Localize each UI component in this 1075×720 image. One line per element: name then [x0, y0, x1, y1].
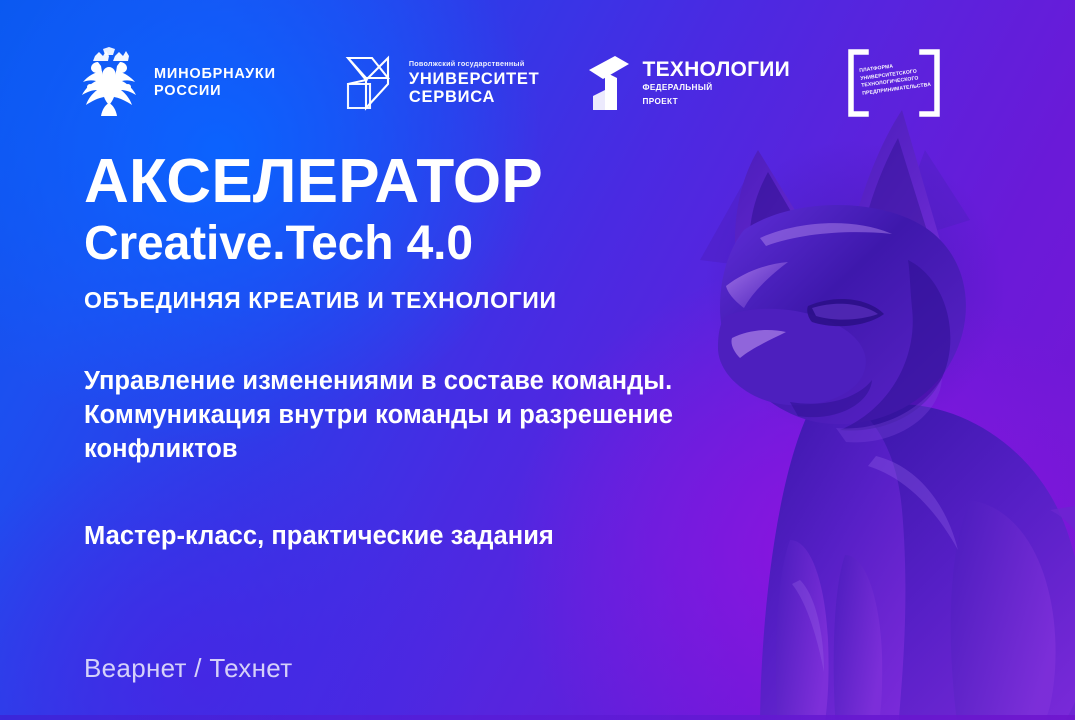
footer-block: Веарнет / Технет [84, 653, 292, 684]
logo-minobrnauki-text: МИНОБРНАУКИ РОССИИ [154, 66, 276, 100]
slide-title: АКСЕЛЕРАТОР [84, 152, 744, 213]
logo-minobrnauki: МИНОБРНАУКИ РОССИИ [78, 47, 276, 119]
slide-tagline: ОБЪЕДИНЯЯ КРЕАТИВ И ТЕХНОЛОГИИ [84, 288, 744, 313]
description-format-note: Мастер-класс, практические задания [84, 519, 554, 553]
logo-pvgus-line-2: СЕРВИСА [409, 88, 540, 106]
logo-pvgus-text: Поволжский государственный УНИВЕРСИТЕТ С… [409, 60, 540, 107]
logo-technologii-sub-2: ПРОЕКТ [642, 97, 790, 107]
presentation-slide: МИНОБРНАУКИ РОССИИ Поволжский государств… [0, 0, 1075, 720]
headline-block: АКСЕЛЕРАТОР Creative.Tech 4.0 ОБЪЕДИНЯЯ … [84, 152, 744, 313]
logo-pvgus: Поволжский государственный УНИВЕРСИТЕТ С… [338, 50, 540, 116]
logo-technologii-sub-1: ФЕДЕРАЛЬНЫЙ [642, 83, 790, 93]
slide-subtitle: Creative.Tech 4.0 [84, 219, 744, 270]
logo-platforma: ПЛАТФОРМА УНИВЕРСИТЕТСКОГО ТЕХНОЛОГИЧЕСК… [842, 47, 946, 119]
logo-technologii-text: ТЕХНОЛОГИИ ФЕДЕРАЛЬНЫЙ ПРОЕКТ [642, 59, 790, 107]
description-text: Управление изменениями в составе команды… [84, 364, 800, 466]
star-monogram-icon [338, 50, 398, 116]
logo-pvgus-line-1: УНИВЕРСИТЕТ [409, 70, 540, 88]
description-line-1: Управление изменениями в составе команды… [84, 367, 672, 395]
bottom-edge-strip [0, 715, 1075, 720]
numeral-one-cap-icon [585, 52, 633, 114]
logo-pvgus-prefix: Поволжский государственный [409, 60, 540, 68]
logo-technologii-title: ТЕХНОЛОГИИ [642, 59, 790, 80]
logo-bar: МИНОБРНАУКИ РОССИИ Поволжский государств… [0, 34, 1075, 132]
logo-technologii: ТЕХНОЛОГИИ ФЕДЕРАЛЬНЫЙ ПРОЕКТ [585, 52, 790, 114]
description-line-2: Коммуникация внутри команды и разрешение [84, 401, 673, 429]
logo-minobrnauki-line-1: МИНОБРНАУКИ [154, 66, 276, 83]
double-headed-eagle-icon [78, 47, 140, 119]
logo-minobrnauki-line-2: РОССИИ [154, 83, 276, 100]
description-line-3: конфликтов [84, 435, 238, 463]
track-label: Веарнет / Технет [84, 653, 292, 684]
description-block: Управление изменениями в составе команды… [84, 364, 800, 466]
